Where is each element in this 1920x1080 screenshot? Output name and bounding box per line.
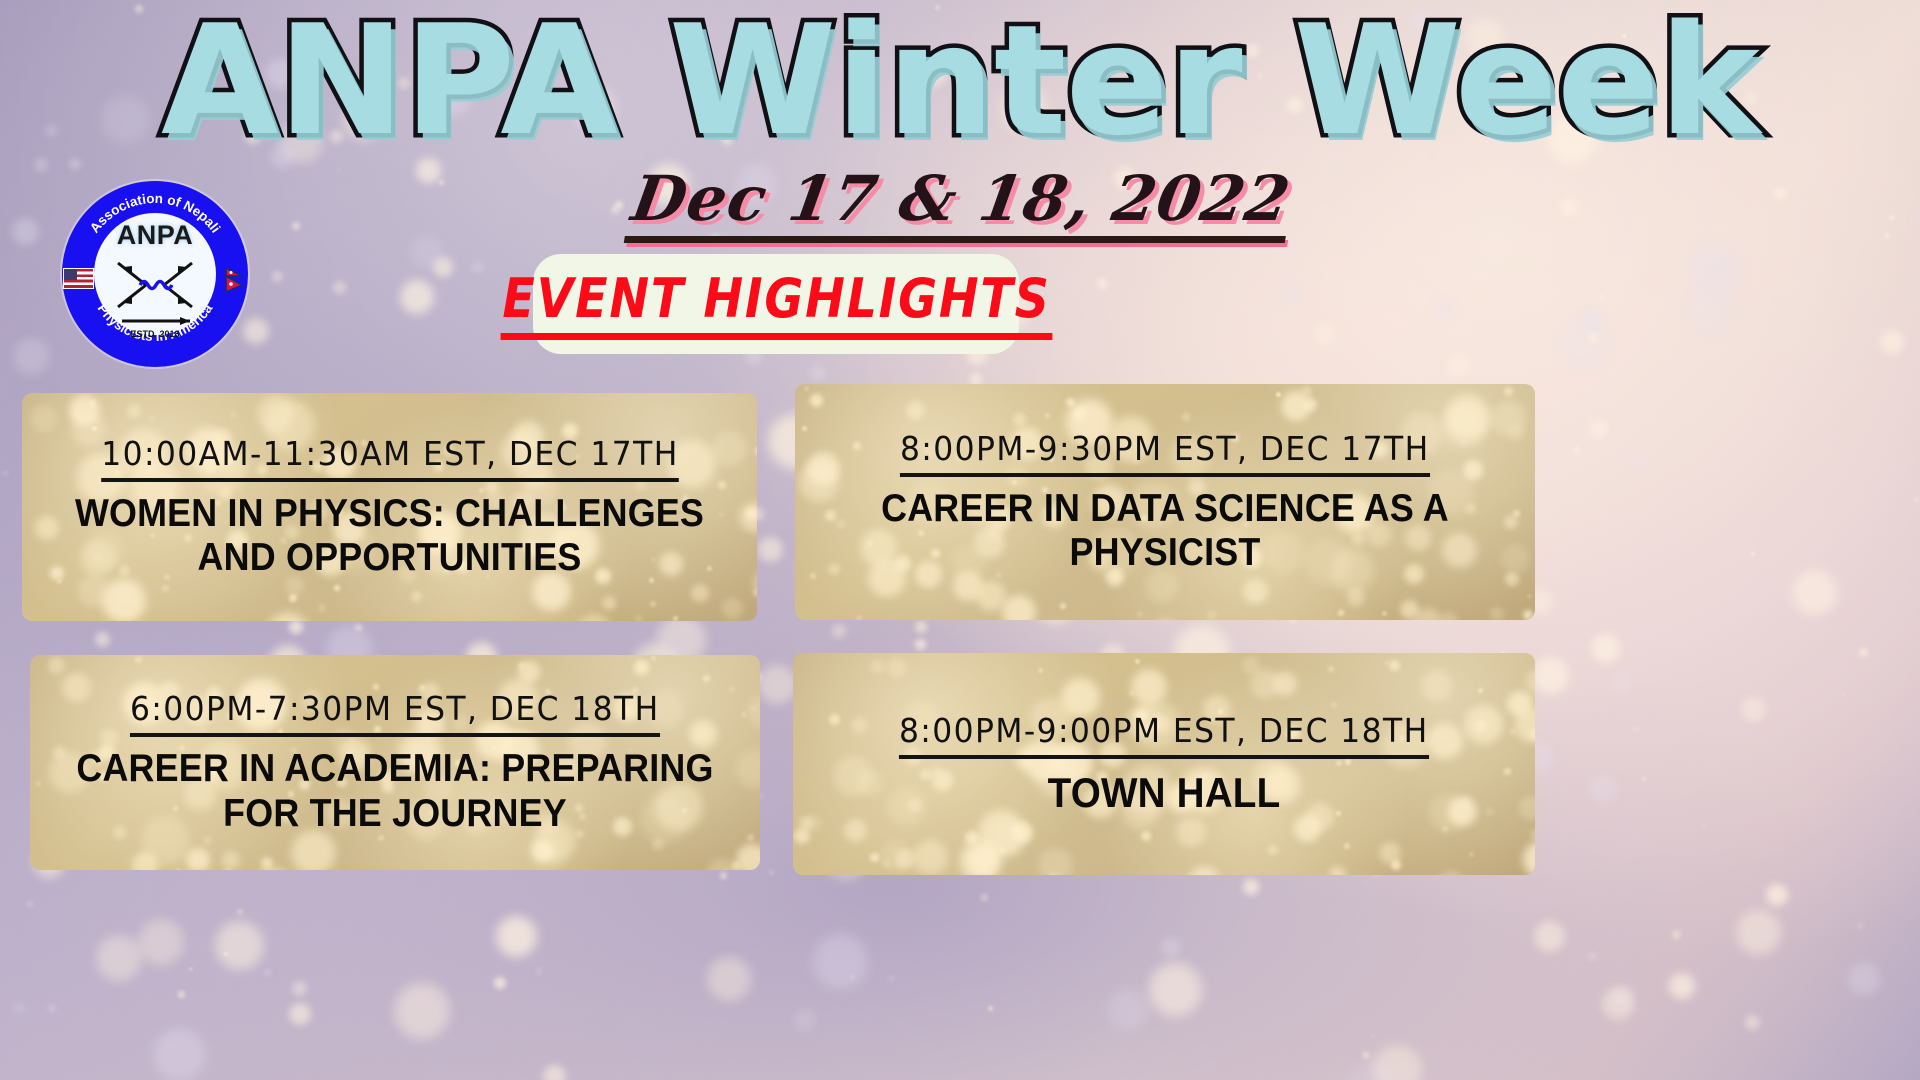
anpa-logo: Association of Nepali Physicists in Amer… (62, 181, 248, 367)
event-card: 6:00PM-7:30PM EST, DEC 18TH CAREER IN AC… (30, 655, 760, 870)
event-title: CAREER IN ACADEMIA: PREPARING FOR THE JO… (74, 747, 716, 836)
event-highlights-banner: EVENT HIGHLIGHTS (533, 254, 1019, 354)
event-card: 8:00PM-9:30PM EST, DEC 17TH CAREER IN DA… (795, 384, 1535, 620)
poster-title: ANPA Winter Week (0, 0, 1920, 166)
event-card: 10:00AM-11:30AM EST, DEC 17TH WOMEN IN P… (22, 393, 757, 621)
event-time: 8:00PM-9:30PM EST, DEC 17TH (900, 429, 1430, 477)
event-card-body: 8:00PM-9:30PM EST, DEC 17TH CAREER IN DA… (811, 429, 1519, 576)
event-card-body: 10:00AM-11:30AM EST, DEC 17TH WOMEN IN P… (38, 434, 741, 581)
event-card: 8:00PM-9:00PM EST, DEC 18TH TOWN HALL (793, 653, 1535, 875)
event-title: CAREER IN DATA SCIENCE AS A PHYSICIST (839, 487, 1490, 576)
logo-established-label: ESTD. 2018 (62, 329, 248, 339)
event-title: WOMEN IN PHYSICS: CHALLENGES AND OPPORTU… (66, 492, 713, 581)
event-highlights-label: EVENT HIGHLIGHTS (502, 267, 1050, 342)
event-card-body: 6:00PM-7:30PM EST, DEC 18TH CAREER IN AC… (46, 689, 744, 836)
poster-date: Dec 17 & 18, 2022 (619, 162, 1301, 245)
poster-canvas: ANPA Winter Week Dec 17 & 18, 2022 EVENT… (0, 0, 1920, 1080)
nepal-flag-icon (225, 267, 247, 293)
event-card-body: 8:00PM-9:00PM EST, DEC 18TH TOWN HALL (809, 711, 1519, 817)
event-time: 8:00PM-9:00PM EST, DEC 18TH (899, 711, 1429, 759)
poster-date-row: Dec 17 & 18, 2022 (0, 162, 1920, 245)
event-time: 6:00PM-7:30PM EST, DEC 18TH (130, 689, 660, 737)
event-title: TOWN HALL (837, 769, 1490, 817)
event-time: 10:00AM-11:30AM EST, DEC 17TH (101, 434, 678, 482)
us-flag-icon (63, 268, 94, 289)
